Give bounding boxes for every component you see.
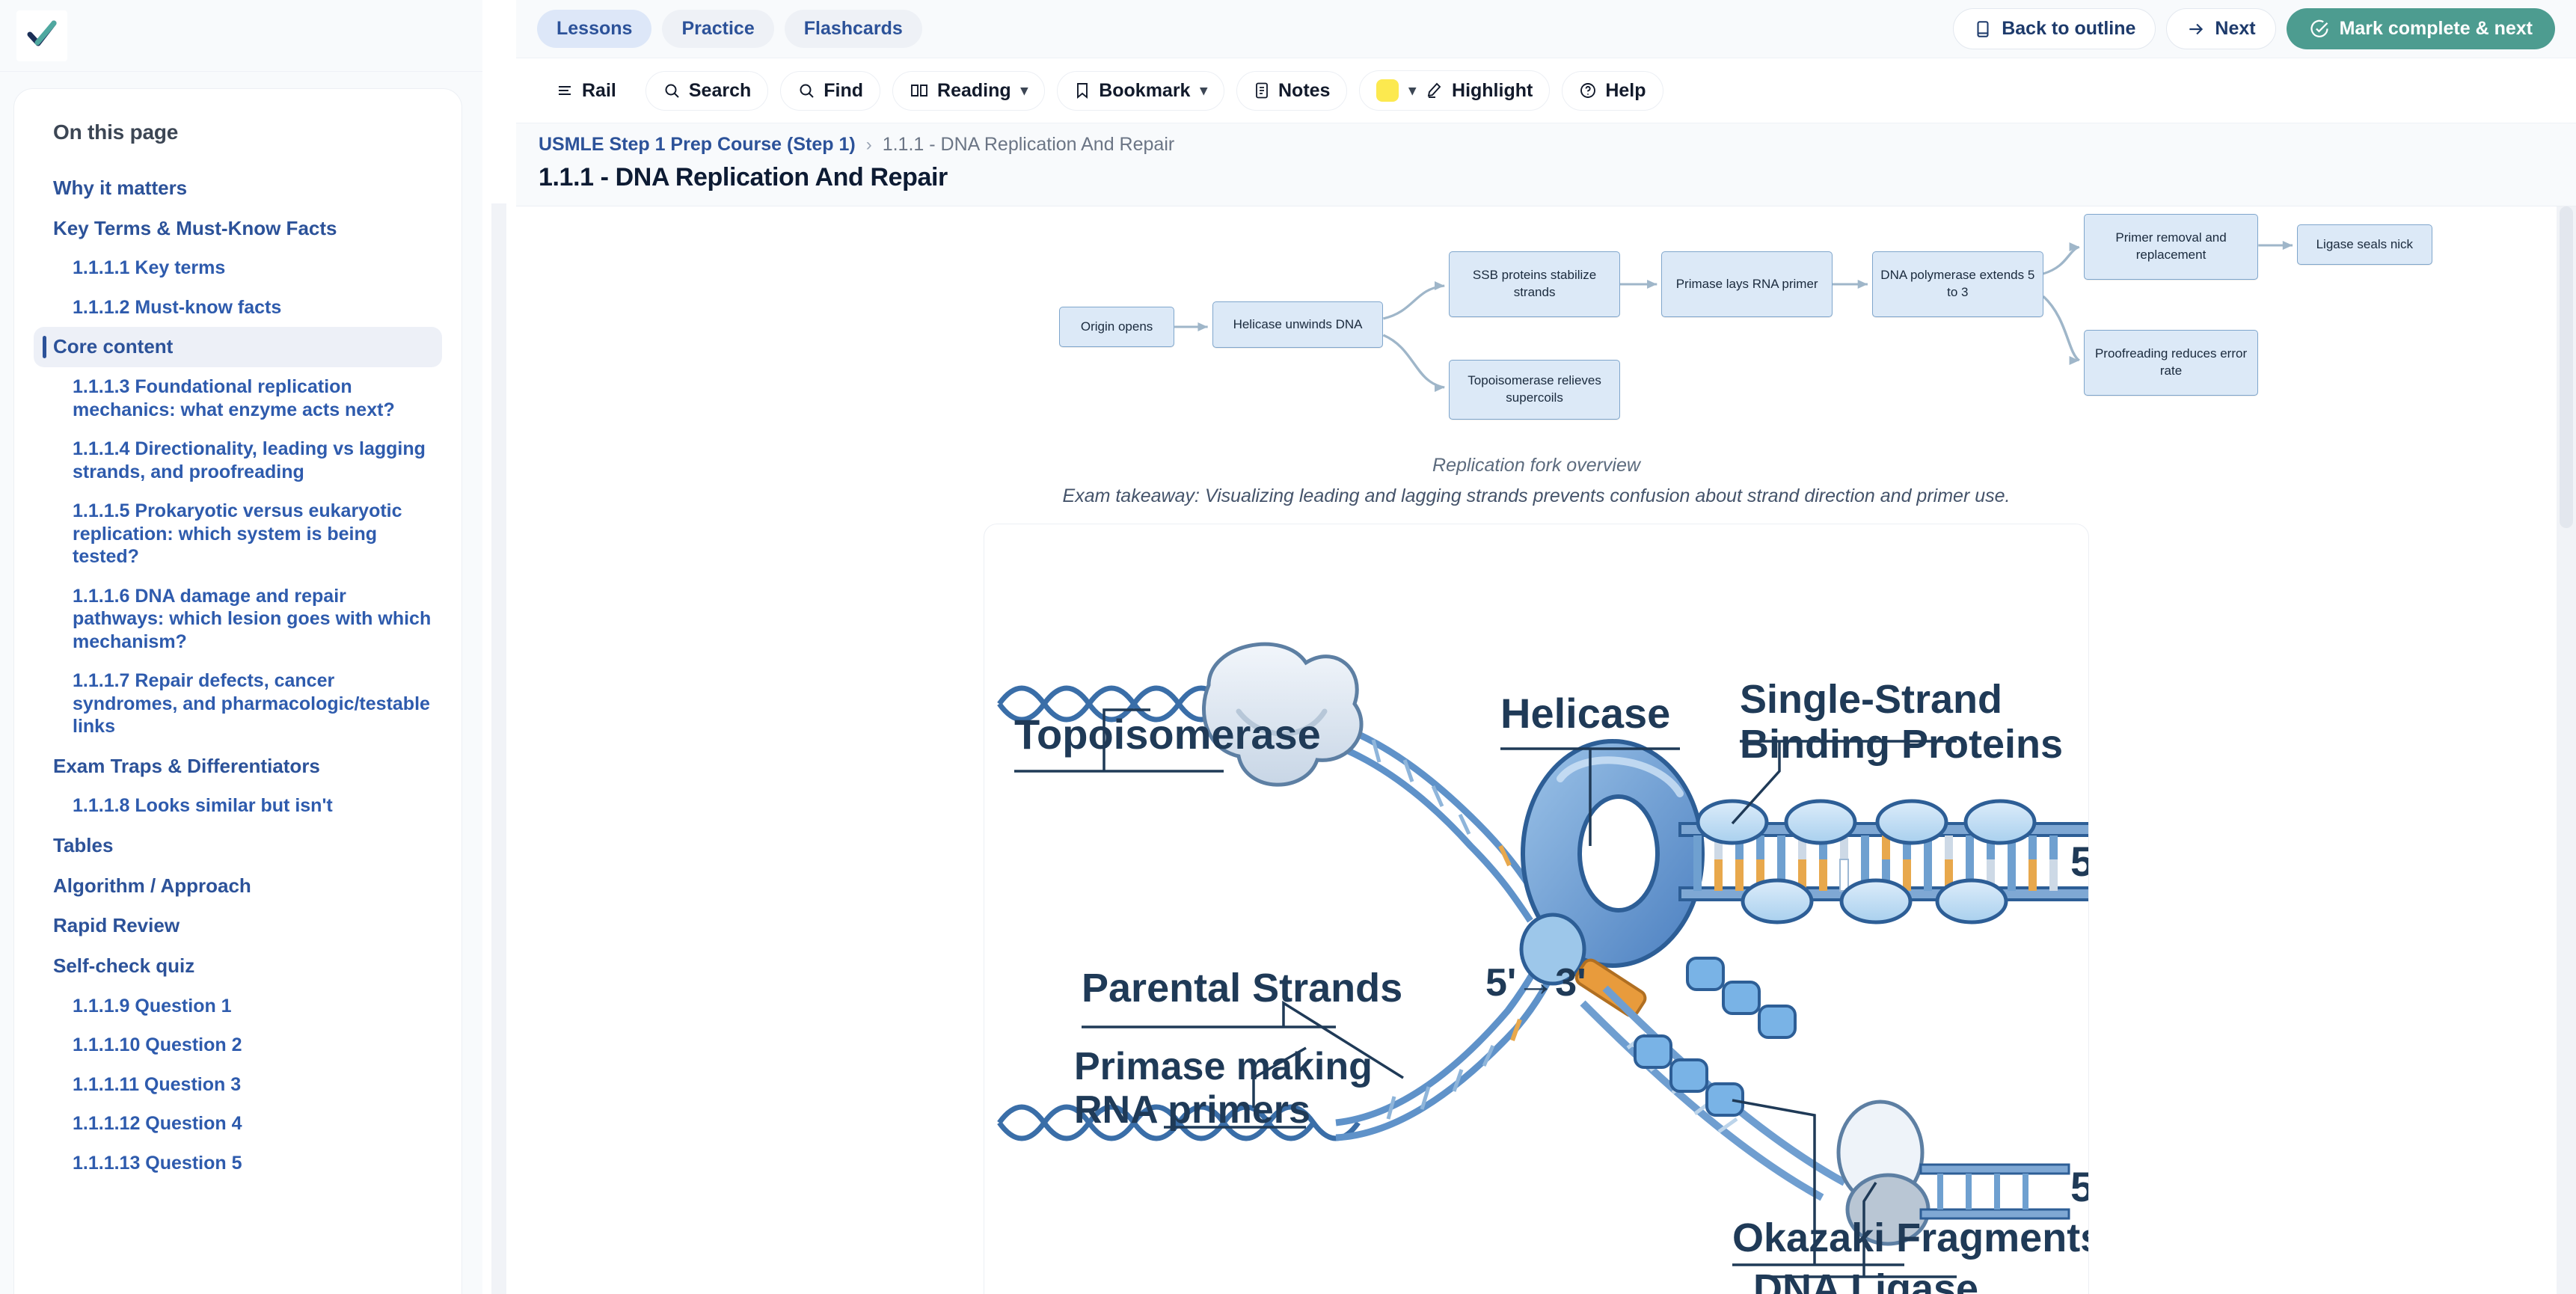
- sidebar-item[interactable]: 1.1.1.8 Looks similar but isn't: [34, 786, 442, 826]
- okazaki-fragments: [1635, 958, 1795, 1115]
- next-label: Next: [2215, 18, 2255, 40]
- label-5-prime-bottom: 5': [2070, 1163, 2089, 1210]
- search-button[interactable]: Search: [645, 71, 768, 111]
- sidebar-item[interactable]: Key Terms & Must-Know Facts: [34, 209, 442, 249]
- sidebar-item[interactable]: 1.1.1.10 Question 2: [34, 1025, 442, 1065]
- breadcrumb-block: USMLE Step 1 Prep Course (Step 1) › 1.1.…: [516, 123, 2576, 206]
- page-title: 1.1.1 - DNA Replication And Repair: [539, 163, 2554, 192]
- find-button[interactable]: Find: [780, 71, 880, 111]
- top-bar: Lessons Practice Flashcards Back to outl…: [516, 0, 2576, 58]
- search-icon: [663, 82, 681, 99]
- label-primase-line2: RNA primers: [1074, 1088, 1310, 1132]
- highlight-label: Highlight: [1452, 80, 1533, 102]
- sidebar: On this page Why it mattersKey Terms & M…: [0, 0, 482, 1294]
- book-open-icon: [910, 82, 929, 99]
- sidebar-item[interactable]: 1.1.1.1 Key terms: [34, 248, 442, 288]
- notes-button[interactable]: Notes: [1236, 71, 1347, 111]
- replication-flowchart: Origin opensHelicase unwinds DNASSB prot…: [546, 214, 2527, 438]
- lesson-content: Origin opensHelicase unwinds DNASSB prot…: [516, 206, 2557, 1294]
- rail-label: Rail: [582, 80, 616, 102]
- app-root: On this page Why it mattersKey Terms & M…: [0, 0, 2576, 1294]
- left-gutter: [482, 0, 516, 1294]
- flowchart-node: Primase lays RNA primer: [1661, 251, 1833, 317]
- flowchart-node: Ligase seals nick: [2297, 224, 2432, 265]
- label-parental-strands: Parental Strands: [1082, 966, 1402, 1011]
- bookmark-icon: [1074, 82, 1091, 99]
- checkmark-logo-icon: [25, 19, 58, 52]
- top-bar-actions: Back to outline Next Mark complete & nex…: [1953, 8, 2555, 49]
- mark-complete-label: Mark complete & next: [2340, 18, 2533, 40]
- sidebar-item[interactable]: Tables: [34, 826, 442, 866]
- flowchart-node: Proofreading reduces error rate: [2084, 330, 2259, 396]
- breadcrumb-current: 1.1.1 - DNA Replication And Repair: [883, 134, 1175, 156]
- table-of-contents: On this page Why it mattersKey Terms & M…: [13, 88, 462, 1294]
- bookmark-button[interactable]: Bookmark ▾: [1057, 71, 1224, 111]
- tab-practice[interactable]: Practice: [662, 10, 773, 48]
- arrow-right-icon: [2186, 19, 2206, 39]
- reading-label: Reading: [937, 80, 1011, 102]
- flowchart-node: DNA polymerase extends 5 to 3: [1872, 251, 2043, 317]
- notes-label: Notes: [1278, 80, 1330, 102]
- content-scrollbar[interactable]: [2557, 206, 2576, 1294]
- label-okazaki: Okazaki Fragments: [1732, 1215, 2089, 1260]
- sidebar-item[interactable]: Self-check quiz: [34, 946, 442, 987]
- sidebar-item[interactable]: 1.1.1.3 Foundational replication mechani…: [34, 367, 442, 429]
- reader-toolbar: Rail Search Find Reading ▾: [516, 58, 2576, 123]
- sidebar-item[interactable]: Algorithm / Approach: [34, 866, 442, 907]
- menu-icon: [556, 82, 574, 99]
- question-circle-icon: [1579, 82, 1597, 99]
- figure-takeaway: Exam takeaway: Visualizing leading and l…: [546, 485, 2527, 507]
- label-direction: 5'→3': [1485, 961, 1586, 1005]
- back-to-outline-button[interactable]: Back to outline: [1953, 8, 2156, 49]
- app-logo[interactable]: [16, 10, 67, 61]
- bookmark-label: Bookmark: [1099, 80, 1190, 102]
- flowchart-node: Topoisomerase relieves supercoils: [1449, 360, 1620, 420]
- label-ssb-line2: Binding Proteins: [1740, 722, 2063, 767]
- help-button[interactable]: Help: [1562, 71, 1663, 111]
- sidebar-item[interactable]: Why it matters: [34, 168, 442, 209]
- breadcrumb-course-link[interactable]: USMLE Step 1 Prep Course (Step 1): [539, 134, 856, 156]
- sidebar-item[interactable]: 1.1.1.4 Directionality, leading vs laggi…: [34, 429, 442, 491]
- sidebar-item[interactable]: 1.1.1.5 Prokaryotic versus eukaryotic re…: [34, 491, 442, 577]
- check-circle-icon: [2309, 19, 2330, 40]
- label-5-prime-top: 5': [2070, 838, 2089, 885]
- toc-title: On this page: [34, 120, 442, 144]
- sidebar-item[interactable]: 1.1.1.12 Question 4: [34, 1104, 442, 1144]
- label-dna-ligase: DNA Ligase: [1753, 1266, 1978, 1294]
- mode-tabs: Lessons Practice Flashcards: [537, 10, 922, 48]
- flowchart-node: SSB proteins stabilize strands: [1449, 251, 1620, 317]
- figure-caption: Replication fork overview: [546, 455, 2527, 476]
- sidebar-item[interactable]: Rapid Review: [34, 906, 442, 946]
- mark-complete-button[interactable]: Mark complete & next: [2287, 8, 2555, 49]
- label-primase-line1: Primase making: [1074, 1045, 1373, 1088]
- find-label: Find: [824, 80, 863, 102]
- sidebar-item[interactable]: 1.1.1.13 Question 5: [34, 1144, 442, 1183]
- back-to-outline-label: Back to outline: [2002, 18, 2135, 40]
- highlight-color-swatch[interactable]: [1376, 79, 1399, 102]
- label-helicase: Helicase: [1500, 690, 1670, 737]
- book-icon: [1973, 19, 1993, 39]
- flowchart-node: Primer removal and replacement: [2084, 214, 2259, 280]
- label-ssb-line1: Single-Strand: [1740, 677, 2002, 722]
- flowchart-node: Helicase unwinds DNA: [1212, 301, 1384, 348]
- left-scrollbar-track[interactable]: [491, 203, 506, 1294]
- sidebar-item[interactable]: 1.1.1.9 Question 1: [34, 987, 442, 1026]
- search-icon: [797, 82, 815, 99]
- sidebar-item[interactable]: 1.1.1.7 Repair defects, cancer syndromes…: [34, 661, 442, 746]
- note-icon: [1254, 82, 1270, 99]
- next-button[interactable]: Next: [2166, 8, 2275, 49]
- breadcrumb-separator: ›: [866, 135, 872, 156]
- logo-bar: [0, 0, 482, 72]
- sidebar-item[interactable]: 1.1.1.2 Must-know facts: [34, 288, 442, 328]
- sidebar-item[interactable]: Core content: [34, 327, 442, 367]
- tab-lessons[interactable]: Lessons: [537, 10, 651, 48]
- chevron-down-icon: ▾: [1200, 82, 1207, 99]
- toc-list: Why it mattersKey Terms & Must-Know Fact…: [34, 168, 442, 1183]
- main-area: Lessons Practice Flashcards Back to outl…: [516, 0, 2576, 1294]
- breadcrumb: USMLE Step 1 Prep Course (Step 1) › 1.1.…: [539, 134, 2554, 156]
- pen-icon: [1424, 82, 1444, 99]
- rail-button[interactable]: Rail: [539, 71, 634, 111]
- help-label: Help: [1605, 80, 1646, 102]
- replication-fork-image-card: Topoisomerase Helicase Single-Strand Bin…: [984, 524, 2089, 1294]
- sidebar-item[interactable]: Exam Traps & Differentiators: [34, 746, 442, 787]
- reading-button[interactable]: Reading ▾: [892, 71, 1045, 111]
- chevron-down-icon: ▾: [1021, 82, 1028, 99]
- flowchart-node: Origin opens: [1059, 307, 1174, 347]
- search-label: Search: [689, 80, 751, 102]
- sidebar-item[interactable]: 1.1.1.11 Question 3: [34, 1065, 442, 1105]
- replication-fork-illustration: Topoisomerase Helicase Single-Strand Bin…: [984, 524, 2089, 1294]
- label-topoisomerase: Topoisomerase: [1014, 711, 1321, 758]
- tab-flashcards[interactable]: Flashcards: [785, 10, 922, 48]
- content-wrap: Origin opensHelicase unwinds DNASSB prot…: [516, 206, 2576, 1294]
- sidebar-item[interactable]: 1.1.1.6 DNA damage and repair pathways: …: [34, 577, 442, 662]
- highlight-button[interactable]: ▾ Highlight: [1359, 70, 1550, 111]
- chevron-down-icon[interactable]: ▾: [1408, 82, 1416, 99]
